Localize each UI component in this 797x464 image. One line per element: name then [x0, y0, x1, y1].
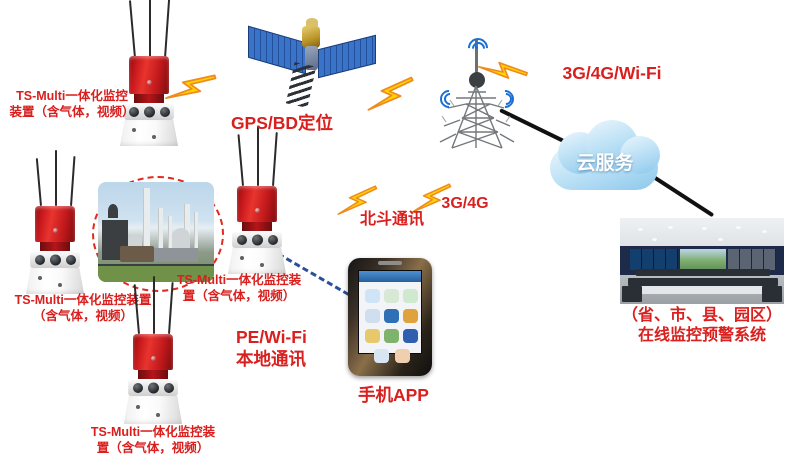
pda-app-icon[interactable] [365, 309, 380, 323]
device-neck [40, 242, 70, 251]
device-antenna [153, 276, 155, 334]
mobile-3g4g-wifi-label: 3G/4G/Wi-Fi [548, 62, 676, 84]
device-bottom-label-line2: 置（含气体，视频） [70, 440, 236, 456]
device-bottom-label-line1: TS-Multi一体化监控装 [70, 424, 236, 440]
video-wall-center [680, 249, 726, 270]
ts-multi-device-top[interactable] [106, 8, 192, 146]
device-base-cone [120, 120, 178, 146]
iot-architecture-diagram: 云服务 （省、市、县、园区） 在线监控预警系统 [0, 0, 797, 464]
device-neck [242, 222, 272, 231]
device-base-cone [228, 248, 286, 274]
video-wall-left [630, 249, 678, 270]
satellite-icon [246, 12, 374, 108]
pda-status-bar [359, 271, 421, 282]
sensor-lens [160, 107, 170, 117]
device-red-housing [133, 334, 173, 370]
ts-multi-device-mid-right[interactable] [214, 140, 300, 270]
device-top-label-line2: 装置（含气体，视频） [2, 104, 142, 120]
device-antenna [272, 132, 278, 186]
sensor-lens [252, 234, 263, 245]
device-antenna [55, 150, 57, 206]
satellite-body [302, 26, 320, 48]
device-neck [138, 370, 168, 379]
device-red-housing [35, 206, 75, 242]
ts-multi-device-mid-left[interactable] [12, 160, 98, 290]
device-top-label: TS-Multi一体化监控 装置（含气体，视频） [2, 88, 142, 120]
device-red-housing [237, 186, 277, 222]
device-base-cone [26, 268, 84, 294]
device-base-cone [124, 396, 182, 424]
lightning-bolt-icon-satellite-tower [368, 68, 413, 120]
cloud-icon: 云服务 [540, 118, 670, 194]
wifi-signal-icon-left [438, 88, 458, 106]
sensor-lens [164, 383, 174, 393]
control-center-line1: （省、市、县、园区） [610, 306, 794, 326]
sensor-lens [148, 382, 159, 393]
pda-screen[interactable] [358, 270, 422, 354]
device-antenna [237, 134, 244, 186]
sensor-lens [50, 254, 61, 265]
pda-speaker [378, 261, 402, 265]
device-antenna [36, 158, 42, 206]
device-antenna [164, 0, 170, 58]
mobile-3g4g-label: 3G/4G [434, 194, 496, 214]
device-top-label-line1: TS-Multi一体化监控 [2, 88, 142, 104]
wifi-signal-icon-top [466, 36, 488, 52]
device-antenna [168, 282, 174, 334]
pda-app-icon[interactable] [403, 329, 418, 343]
device-mid-right-label-line1: TS-Multi一体化监控装 [156, 272, 322, 288]
pda-app-icon[interactable] [384, 289, 399, 303]
ts-multi-device-bottom[interactable] [110, 288, 196, 420]
satellite-solar-panel-right [318, 35, 376, 78]
pda-app-icon[interactable] [365, 329, 380, 343]
gps-label: GPS/BD定位 [222, 112, 342, 134]
refinery-photo [98, 182, 214, 282]
satellite-dish [306, 18, 318, 26]
device-antenna [70, 156, 75, 206]
cloud-label: 云服务 [540, 148, 670, 175]
control-center-label: （省、市、县、园区） 在线监控预警系统 [610, 306, 794, 347]
wifi-signal-icon-right [494, 88, 514, 106]
device-antenna [134, 284, 140, 334]
control-center-line2: 在线监控预警系统 [610, 326, 794, 346]
sensor-lens [66, 255, 76, 265]
local-comm-line2: 本地通讯 [236, 348, 336, 370]
device-sensor-ring [128, 379, 178, 396]
device-sensor-ring [30, 251, 80, 268]
sensor-lens [268, 235, 278, 245]
device-sensor-ring [232, 231, 282, 248]
sensor-lens [133, 383, 143, 393]
pda-app-icon[interactable] [403, 309, 418, 323]
local-comm-label: PE/Wi-Fi 本地通讯 [236, 326, 336, 371]
pda-app-icon[interactable] [384, 329, 399, 343]
sensor-lens [144, 106, 155, 117]
local-comm-line1: PE/Wi-Fi [236, 326, 336, 348]
handheld-device[interactable] [348, 258, 432, 376]
beidou-label: 北斗通讯 [350, 210, 434, 230]
sensor-lens [35, 255, 45, 265]
device-bottom-label: TS-Multi一体化监控装 置（含气体，视频） [70, 424, 236, 456]
control-room-photo [620, 218, 784, 304]
pda-app-icon[interactable] [384, 309, 399, 323]
pda-app-icon[interactable] [365, 289, 380, 303]
phone-app-label: 手机APP [358, 384, 422, 406]
pda-app-icon[interactable] [395, 349, 410, 363]
control-room-ceiling [620, 218, 784, 246]
device-antenna [149, 0, 151, 58]
cell-tower-icon [432, 22, 522, 150]
video-wall-right [728, 249, 776, 270]
sensor-lens [237, 235, 247, 245]
device-antenna [257, 126, 259, 186]
pda-app-icon[interactable] [403, 289, 418, 303]
pda-app-icon[interactable] [374, 349, 389, 363]
device-antenna [129, 0, 136, 58]
